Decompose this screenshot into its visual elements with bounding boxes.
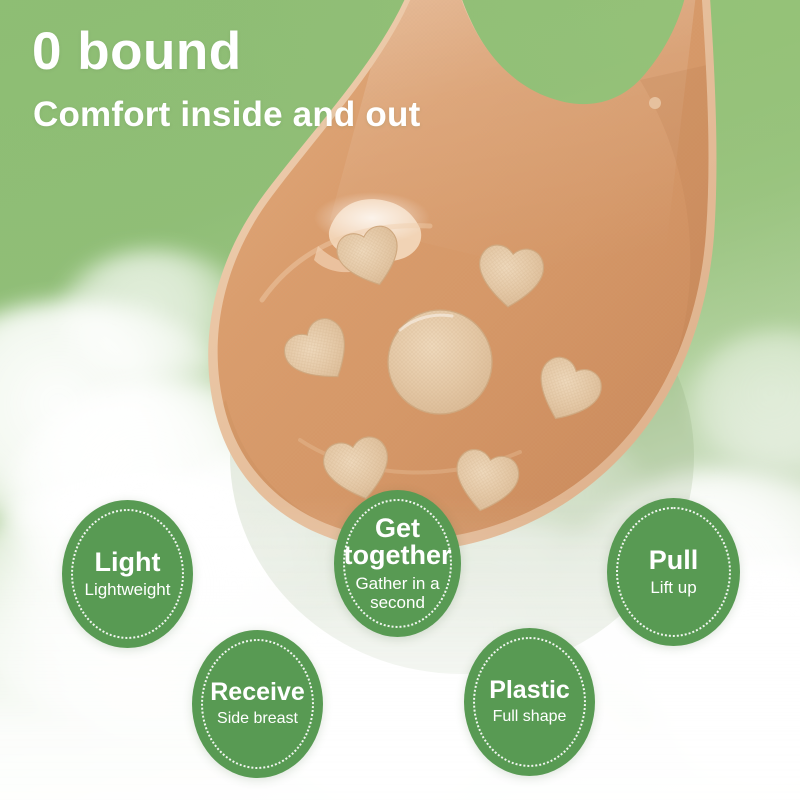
feature-badge-receive[interactable]: Receive Side breast (192, 630, 323, 778)
page-title: 0 bound (32, 22, 242, 81)
feature-badge-title: Receive (200, 680, 315, 706)
product-banner: 0 bound Comfort inside and out Light Lig… (0, 0, 800, 800)
feature-badge-subtitle: Side breast (205, 710, 310, 728)
feature-badge-title: Pull (639, 547, 709, 575)
feature-badge-title: Light (85, 549, 171, 577)
page-subtitle: Comfort inside and out (33, 95, 420, 135)
feature-badge-subtitle: Gather in a second (334, 574, 461, 612)
feature-badge-title: Plastic (479, 678, 580, 704)
feature-badge-plastic[interactable]: Plastic Full shape (464, 628, 595, 776)
feature-badge-subtitle: Lightweight (72, 580, 182, 599)
center-circle-pad (388, 310, 492, 414)
feature-badge-get-together[interactable]: Get together Gather in a second (334, 490, 461, 637)
feature-badge-subtitle: Lift up (638, 578, 708, 597)
feature-badge-pull[interactable]: Pull Lift up (607, 498, 740, 646)
feature-badge-light[interactable]: Light Lightweight (62, 500, 193, 648)
feature-badge-subtitle: Full shape (481, 708, 579, 726)
feature-badge-title: Get together (334, 515, 462, 570)
product-nub (649, 97, 661, 109)
